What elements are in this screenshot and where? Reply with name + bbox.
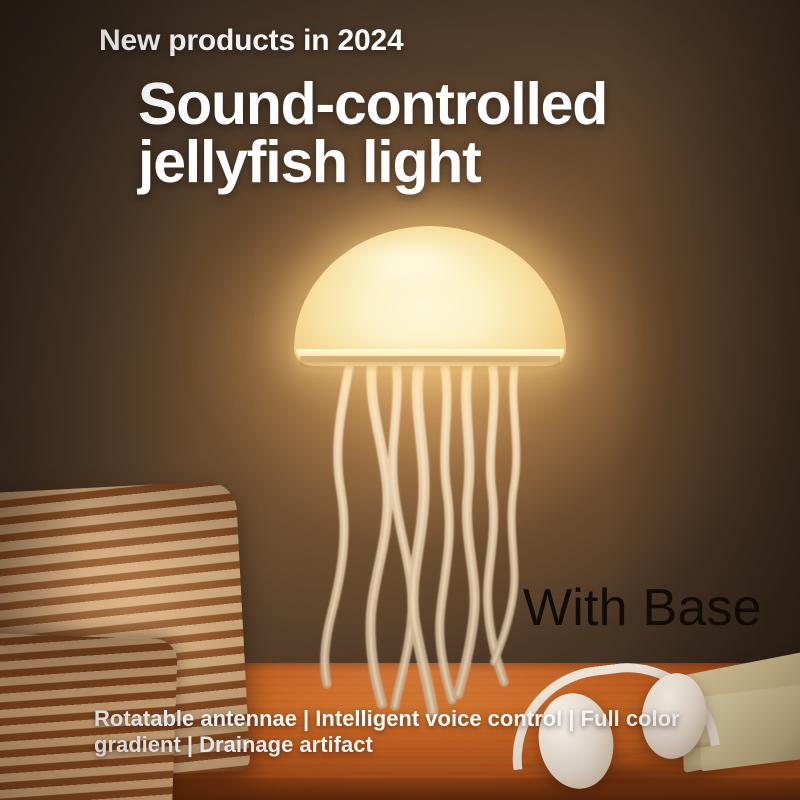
- banner-title-line-1: Sound-controlled: [138, 76, 607, 134]
- banner-kicker: New products in 2024: [99, 24, 403, 58]
- with-base-badge: With Base: [523, 578, 762, 638]
- feature-list-text: Rotatable antennae | Intelligent voice c…: [94, 706, 744, 758]
- banner-title-line-2: jellyfish light: [138, 134, 607, 192]
- banner-title: Sound-controlled jellyfish light: [138, 76, 607, 192]
- dome-under-shadow: [300, 356, 560, 372]
- product-banner-image: New products in 2024 Sound-controlled je…: [0, 0, 800, 800]
- dome-highlight: [334, 236, 484, 288]
